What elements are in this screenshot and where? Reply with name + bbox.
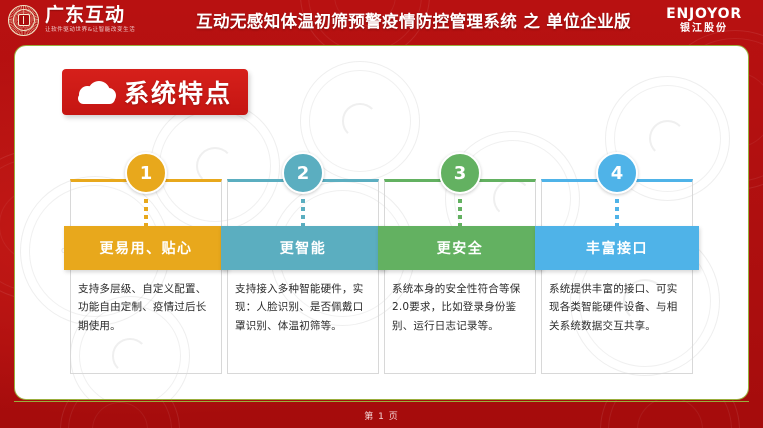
- feature-card[interactable]: 4 丰富接口 系统提供丰富的接口、可实现各类智能硬件设备、与相关系统数据交互共享…: [541, 152, 693, 382]
- card-number-badge: 3: [439, 152, 481, 194]
- card-number: 4: [611, 163, 624, 184]
- cloud-icon: [76, 80, 116, 104]
- page-number: 第 1 页: [0, 409, 763, 422]
- right-brand-block: ENJOYOR 银江股份: [653, 6, 763, 35]
- card-body-text: 系统本身的安全性符合等保2.0要求，比如登录身份鉴别、运行日志记录等。: [392, 280, 528, 335]
- footer-divider: [14, 401, 749, 402]
- company-seal-icon: [8, 5, 39, 36]
- card-title: 更安全: [378, 226, 542, 270]
- company-slogan: 让软件驱动世界&让智能改变生活: [45, 28, 135, 34]
- card-title: 更智能: [221, 226, 385, 270]
- left-brand-block: 广东互动 让软件驱动世界&让智能改变生活: [0, 5, 186, 36]
- card-number-badge: 4: [596, 152, 638, 194]
- feature-card[interactable]: 1 更易用、贴心 支持多层级、自定义配置、功能自由定制、疫情过后长期使用。: [70, 152, 222, 382]
- left-brand-text: 广东互动 让软件驱动世界&让智能改变生活: [45, 6, 135, 34]
- feature-card[interactable]: 2 更智能 支持接入多种智能硬件，实现：人脸识别、是否佩戴口罩识别、体温初筛等。: [227, 152, 379, 382]
- card-body-text: 支持多层级、自定义配置、功能自由定制、疫情过后长期使用。: [78, 280, 214, 335]
- section-title: 系统特点: [124, 74, 232, 110]
- card-number-badge: 2: [282, 152, 324, 194]
- connector-dots: [301, 199, 305, 226]
- partner-name-english: ENJOYOR: [653, 6, 755, 22]
- card-title: 更易用、贴心: [64, 226, 228, 270]
- connector-dots: [144, 199, 148, 226]
- company-name: 广东互动: [45, 6, 135, 25]
- card-title: 丰富接口: [535, 226, 699, 270]
- card-number: 3: [454, 163, 467, 184]
- card-number: 1: [140, 163, 153, 184]
- feature-card-list: 1 更易用、贴心 支持多层级、自定义配置、功能自由定制、疫情过后长期使用。 2 …: [14, 152, 749, 382]
- page-title: 互动无感知体温初筛预警疫情防控管理系统 之 单位企业版: [186, 8, 653, 32]
- feature-card[interactable]: 3 更安全 系统本身的安全性符合等保2.0要求，比如登录身份鉴别、运行日志记录等…: [384, 152, 536, 382]
- card-body-text: 支持接入多种智能硬件，实现：人脸识别、是否佩戴口罩识别、体温初筛等。: [235, 280, 371, 335]
- card-body-text: 系统提供丰富的接口、可实现各类智能硬件设备、与相关系统数据交互共享。: [549, 280, 685, 335]
- connector-dots: [458, 199, 462, 226]
- card-number-badge: 1: [125, 152, 167, 194]
- section-header-badge: 系统特点: [62, 69, 248, 115]
- card-number: 2: [297, 163, 310, 184]
- connector-dots: [615, 199, 619, 226]
- partner-name-chinese: 银江股份: [653, 23, 755, 35]
- top-header-bar: 广东互动 让软件驱动世界&让智能改变生活 互动无感知体温初筛预警疫情防控管理系统…: [0, 0, 763, 40]
- slide-canvas: 广东互动 让软件驱动世界&让智能改变生活 互动无感知体温初筛预警疫情防控管理系统…: [0, 0, 763, 428]
